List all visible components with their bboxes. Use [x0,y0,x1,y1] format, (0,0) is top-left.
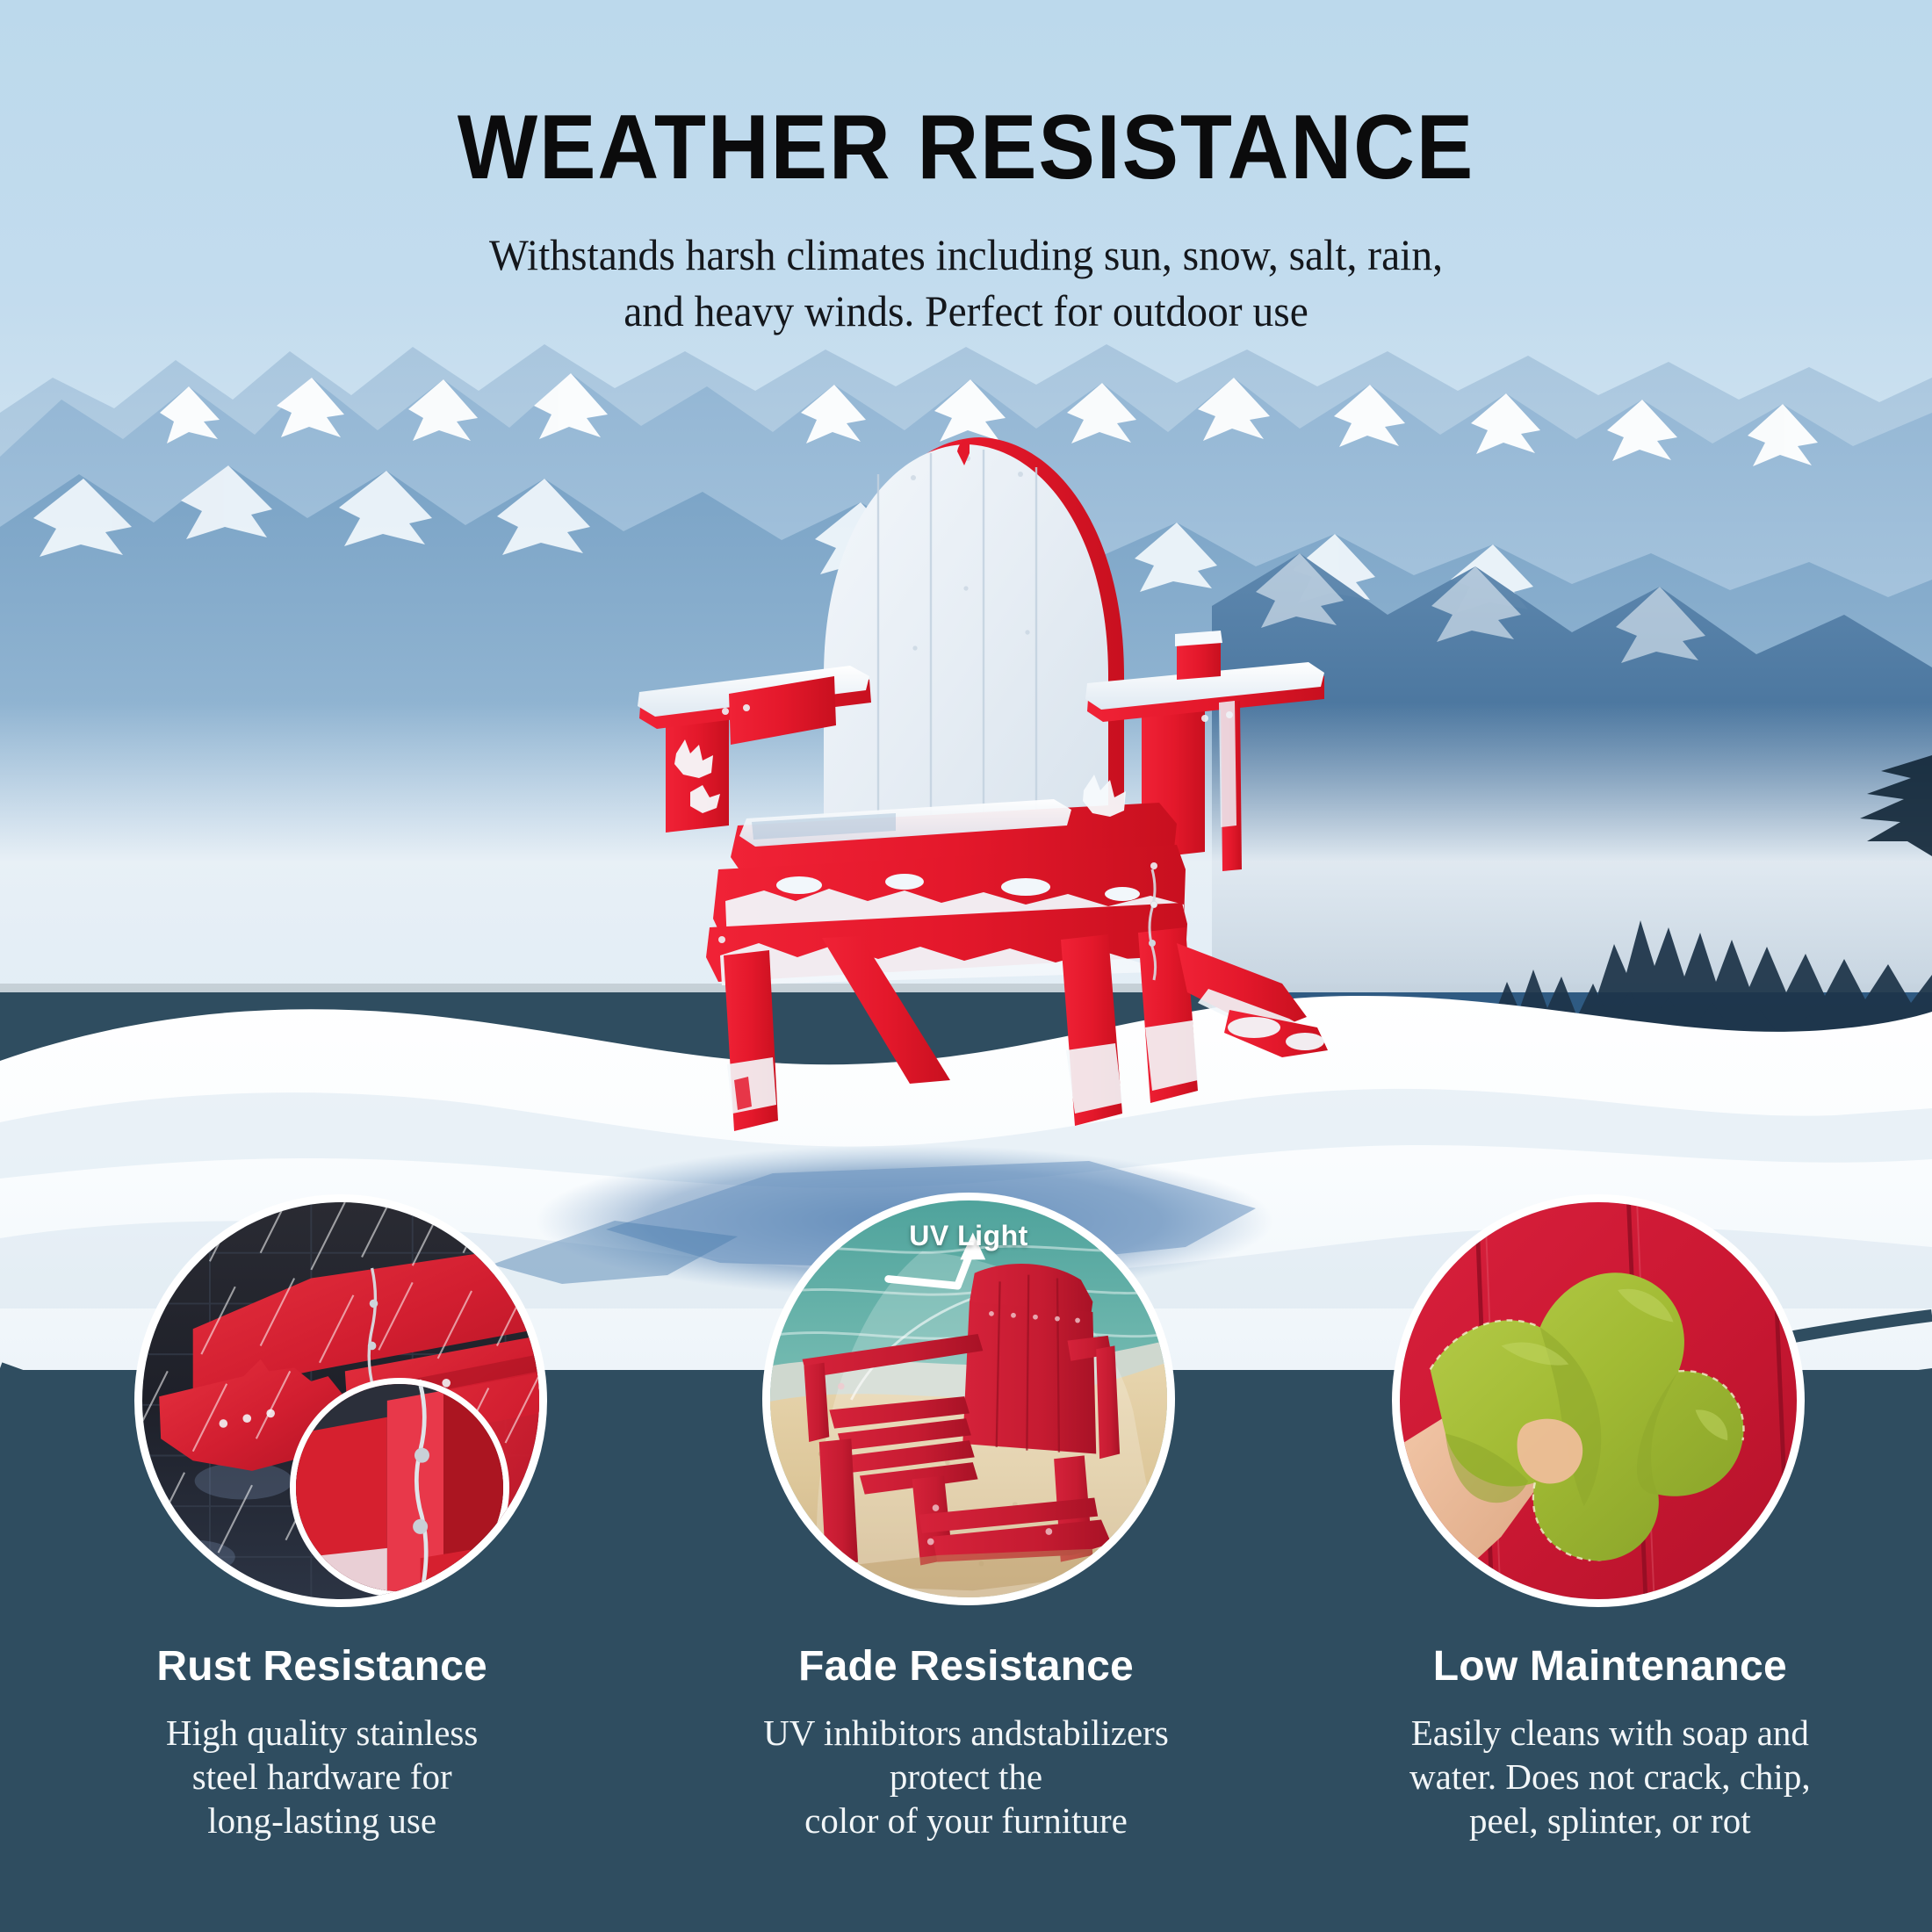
feature-title-rust: Rust Resistance [30,1645,614,1689]
feature-desc-maintenance: Easily cleans with soap and water. Does … [1318,1712,1902,1842]
feature-desc-fade-line2: protect the [674,1755,1258,1799]
infographic-root: WEATHER RESISTANCE Withstands harsh clim… [0,0,1932,1932]
feature-fade-resistance: Fade Resistance UV inhibitors andstabili… [644,1645,1287,1932]
feature-desc-fade-line1: UV inhibitors andstabilizers [674,1712,1258,1755]
feature-rust-resistance: Rust Resistance High quality stainless s… [0,1645,644,1932]
chain-closeup-inset [290,1378,509,1597]
feature-text-row: Rust Resistance High quality stainless s… [0,1645,1932,1932]
feature-circles: UV Light [0,0,1932,1932]
feature-desc-fade: UV inhibitors andstabilizers protect the… [674,1712,1258,1842]
feature-desc-rust-line3: long-lasting use [30,1799,614,1843]
rust-resistance-image [134,1194,547,1607]
feature-desc-maintenance-line3: peel, splinter, or rot [1318,1799,1902,1843]
feature-desc-rust-line1: High quality stainless [30,1712,614,1755]
feature-desc-fade-line3: color of your furniture [674,1799,1258,1843]
feature-desc-maintenance-line1: Easily cleans with soap and [1318,1712,1902,1755]
feature-desc-rust-line2: steel hardware for [30,1755,614,1799]
uv-arrow-icon [770,1200,1167,1597]
low-maintenance-image [1392,1194,1805,1607]
uv-light-badge: UV Light [770,1220,1167,1252]
feature-desc-rust: High quality stainless steel hardware fo… [30,1712,614,1842]
fade-resistance-image: UV Light [762,1193,1175,1605]
feature-low-maintenance: Low Maintenance Easily cleans with soap … [1288,1645,1932,1932]
feature-title-maintenance: Low Maintenance [1318,1645,1902,1689]
feature-title-fade: Fade Resistance [674,1645,1258,1689]
cleaning-cloth-photo [1400,1202,1797,1599]
feature-desc-maintenance-line2: water. Does not crack, chip, [1318,1755,1902,1799]
